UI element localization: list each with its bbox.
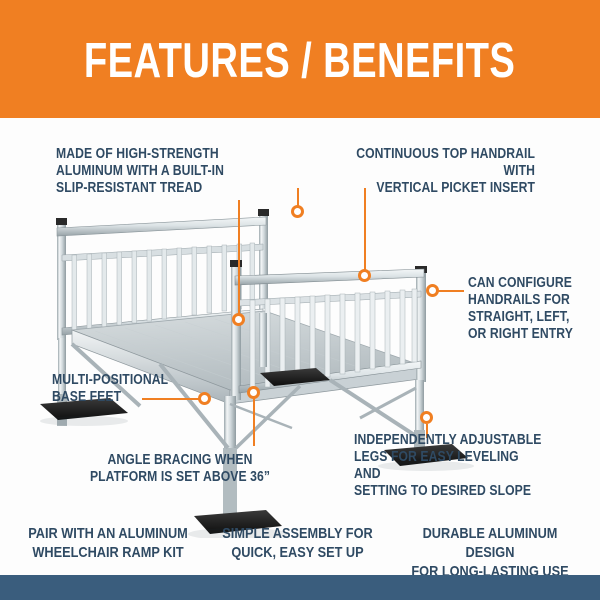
- marker-dot-tread: [232, 313, 245, 326]
- bottom-caption-2: SIMPLE ASSEMBLY FOR QUICK, EASY SET UP: [219, 524, 376, 562]
- marker-dot-configure: [426, 284, 439, 297]
- leader-line-tread: [238, 200, 240, 316]
- callout-configure: CAN CONFIGURE HANDRAILS FOR STRAIGHT, LE…: [468, 275, 581, 343]
- marker-dot-legs: [420, 411, 433, 424]
- marker-dot-basefeet: [198, 392, 211, 405]
- leader-line-configure: [436, 290, 464, 292]
- infographic-canvas: FEATURES / BENEFITS: [0, 0, 600, 600]
- marker-dot-handrail-left: [291, 205, 304, 218]
- leader-line-handrail-right: [364, 188, 366, 272]
- bottom-caption-1: PAIR WITH AN ALUMINUM WHEELCHAIR RAMP KI…: [23, 524, 193, 562]
- footer-bar: [0, 575, 600, 600]
- page-title: FEATURES / BENEFITS: [84, 37, 515, 86]
- leader-line-bracing: [253, 398, 255, 446]
- callout-bracing: ANGLE BRACING WHEN PLATFORM IS SET ABOVE…: [72, 452, 287, 486]
- callout-base-feet: MULTI-POSITIONAL BASE FEET: [52, 372, 178, 406]
- callout-handrail: CONTINUOUS TOP HANDRAIL WITH VERTICAL PI…: [323, 146, 535, 197]
- header-banner: FEATURES / BENEFITS: [0, 0, 600, 118]
- marker-dot-handrail-right: [358, 269, 371, 282]
- bottom-caption-3: DURABLE ALUMINUM DESIGN FOR LONG-LASTING…: [402, 524, 579, 581]
- marker-dot-bracing: [247, 386, 260, 399]
- callout-tread: MADE OF HIGH-STRENGTH ALUMINUM WITH A BU…: [56, 146, 249, 197]
- callout-legs: INDEPENDENTLY ADJUSTABLE LEGS FOR EASY L…: [354, 432, 543, 500]
